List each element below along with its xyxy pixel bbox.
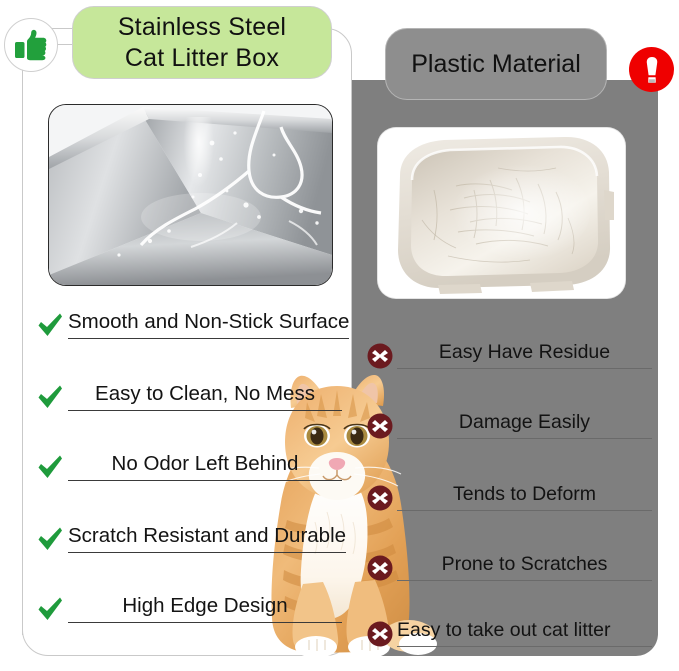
list-item: Damage Easily xyxy=(367,410,652,439)
list-item: High Edge Design xyxy=(36,594,342,623)
list-item: Easy to take out cat litter xyxy=(367,618,652,647)
connector-line-vertical xyxy=(22,55,23,635)
list-item: Smooth and Non-Stick Surface xyxy=(36,310,342,339)
cross-icon xyxy=(367,485,393,511)
list-item-label: High Edge Design xyxy=(68,594,342,623)
infographic-canvas: Stainless Steel Cat Litter Box Plastic M… xyxy=(0,0,679,671)
check-icon xyxy=(36,525,64,553)
exclamation-circle-icon xyxy=(644,55,660,85)
list-item: Tends to Deform xyxy=(367,482,652,511)
plastic-material-title-pill: Plastic Material xyxy=(385,28,607,100)
list-item-label: Easy Have Residue xyxy=(397,340,652,369)
list-item: No Odor Left Behind xyxy=(36,452,342,481)
cross-icon xyxy=(367,555,393,581)
list-item-label: Prone to Scratches xyxy=(397,552,652,581)
stainless-steel-title-pill: Stainless Steel Cat Litter Box xyxy=(72,6,332,79)
list-item: Easy to Clean, No Mess xyxy=(36,382,342,411)
list-item-label: Damage Easily xyxy=(397,410,652,439)
list-item-label: Easy to Clean, No Mess xyxy=(68,382,342,411)
page-title-line-1: Stainless Steel xyxy=(118,12,286,43)
list-item-label: Easy to take out cat litter xyxy=(397,618,652,647)
list-item-label: Smooth and Non-Stick Surface xyxy=(68,310,349,339)
stainless-steel-photo-graphic xyxy=(49,105,332,285)
list-item-label: Scratch Resistant and Durable xyxy=(68,524,346,553)
list-item: Scratch Resistant and Durable xyxy=(36,524,342,553)
plastic-product-photo xyxy=(378,128,625,298)
cross-icon xyxy=(367,413,393,439)
check-icon xyxy=(36,453,64,481)
thumbs-up-icon xyxy=(14,29,48,61)
plastic-material-title: Plastic Material xyxy=(411,49,581,80)
list-item: Easy Have Residue xyxy=(367,340,652,369)
list-item: Prone to Scratches xyxy=(367,552,652,581)
stainless-steel-product-photo xyxy=(48,104,333,286)
check-icon xyxy=(36,383,64,411)
page-title-line-2: Cat Litter Box xyxy=(118,43,286,74)
plastic-photo-graphic xyxy=(378,128,625,298)
list-item-label: Tends to Deform xyxy=(397,482,652,511)
list-item-label: No Odor Left Behind xyxy=(68,452,342,481)
cross-icon xyxy=(367,343,393,369)
thumbs-up-badge xyxy=(4,18,58,72)
warning-badge xyxy=(629,47,674,92)
check-icon xyxy=(36,311,64,339)
check-icon xyxy=(36,595,64,623)
cross-icon xyxy=(367,621,393,647)
